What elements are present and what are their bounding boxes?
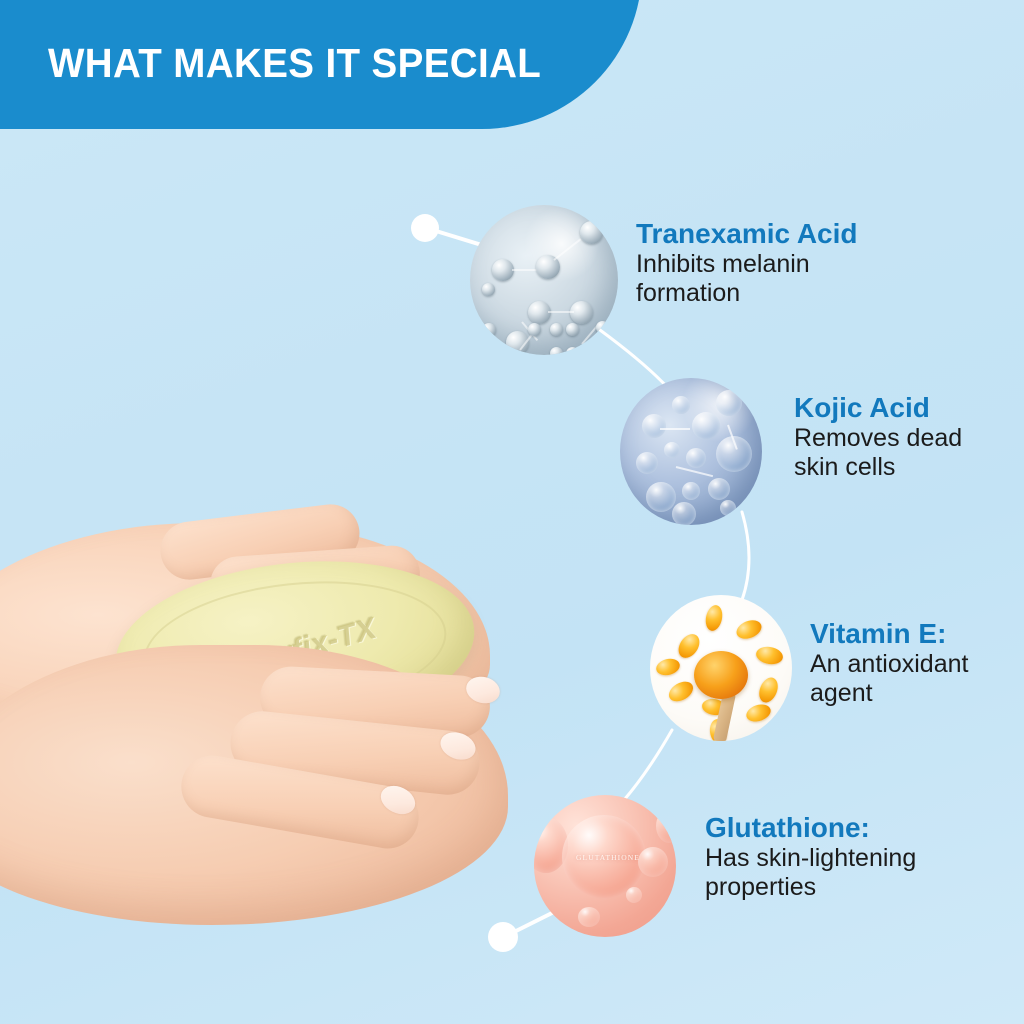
- bubble: [656, 809, 676, 843]
- page-title: WHAT MAKES IT SPECIAL: [48, 40, 541, 87]
- bubble: [708, 478, 730, 500]
- glutathione-bubble-label: GLUTATHIONE: [576, 853, 640, 862]
- ingredient-title: Vitamin E:: [810, 618, 968, 649]
- ingredient-text-tranexamic-acid: Tranexamic Acid Inhibits melanin formati…: [636, 218, 858, 307]
- molecule-atom: [492, 259, 514, 281]
- molecule-atom: [482, 323, 496, 337]
- molecule-atom: [566, 323, 579, 336]
- bubble: [692, 412, 720, 440]
- bubble: [664, 442, 680, 458]
- bubble: [642, 414, 666, 438]
- vitamin-capsule: [744, 702, 773, 725]
- ingredient-description: An antioxidant agent: [810, 650, 968, 707]
- vitamin-capsule: [755, 645, 785, 666]
- wooden-spoon-bowl-with-oil: [694, 651, 748, 699]
- vitamin-capsule: [665, 678, 696, 706]
- bubble: [578, 907, 600, 927]
- connector-dot-bottom: [488, 922, 518, 952]
- ingredient-title: Glutathione:: [705, 812, 916, 843]
- molecule-atom: [528, 323, 541, 336]
- molecule-atom: [566, 347, 579, 355]
- bubble: [720, 500, 736, 516]
- bubble: [638, 847, 668, 877]
- ingredient-title: Kojic Acid: [794, 392, 962, 423]
- bubble: [682, 482, 700, 500]
- bubble: [646, 482, 676, 512]
- ingredient-description: Has skin-lightening properties: [705, 844, 916, 901]
- ingredient-text-vitamin-e: Vitamin E: An antioxidant agent: [810, 618, 968, 707]
- ingredient-description: Removes dead skin cells: [794, 424, 962, 481]
- vitamin-capsule: [734, 617, 764, 643]
- ingredient-text-glutathione: Glutathione: Has skin-lightening propert…: [705, 812, 916, 901]
- connector-dot-top: [411, 214, 439, 242]
- ingredient-description: Inhibits melanin formation: [636, 250, 858, 307]
- ingredient-circle-kojic-acid[interactable]: [620, 378, 762, 525]
- ingredient-title: Tranexamic Acid: [636, 218, 858, 249]
- hands-holding-soap-photo: Skarfix-TX: [0, 495, 620, 925]
- bubble: [626, 887, 642, 903]
- vitamin-capsule: [674, 630, 703, 662]
- ingredient-circle-vitamin-e[interactable]: [650, 595, 792, 741]
- molecule-atom: [592, 331, 615, 354]
- vitamin-capsule: [654, 656, 681, 677]
- bubble: [716, 390, 742, 416]
- molecule-atom: [550, 347, 563, 355]
- ingredient-circle-glutathione[interactable]: GLUTATHIONE: [534, 795, 676, 937]
- molecule-atom: [550, 323, 563, 336]
- bubble: [636, 452, 658, 474]
- ingredient-text-kojic-acid: Kojic Acid Removes dead skin cells: [794, 392, 962, 481]
- molecule-bond: [553, 238, 581, 261]
- infographic-canvas: WHAT MAKES IT SPECIAL Skarfix-TX: [0, 0, 1024, 1024]
- molecule-bond: [660, 428, 690, 430]
- bubble: [672, 396, 690, 414]
- vitamin-capsule: [756, 675, 782, 705]
- ingredient-circle-tranexamic-acid[interactable]: [470, 205, 618, 355]
- molecule-bond: [548, 311, 574, 313]
- molecule-atom: [482, 283, 495, 296]
- bubble: [672, 502, 696, 525]
- molecule-atom: [580, 221, 603, 244]
- molecule-atom: [596, 321, 609, 334]
- bubble: [686, 448, 706, 468]
- vitamin-capsule: [703, 604, 724, 633]
